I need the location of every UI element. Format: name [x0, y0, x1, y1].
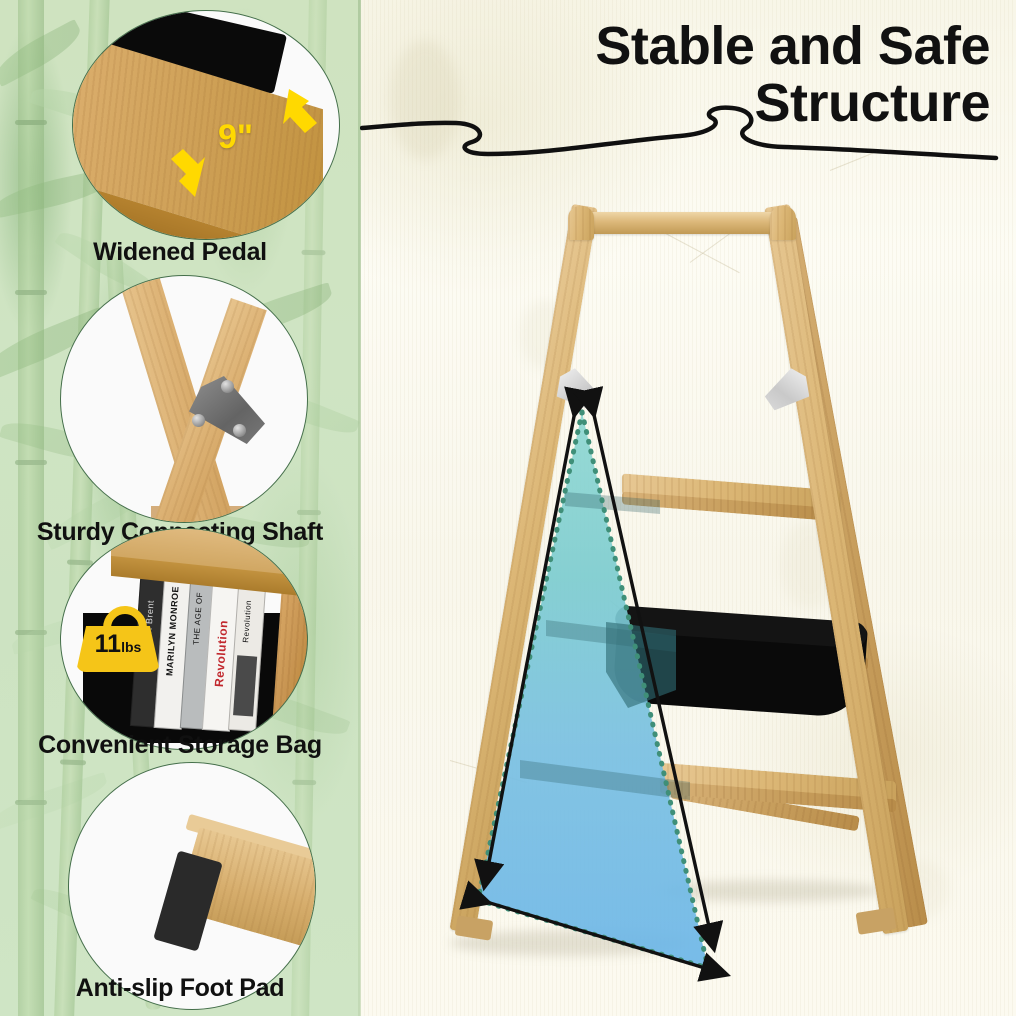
bracket-rivet: [192, 414, 205, 427]
feature-widened-pedal: 9" Widened Pedal: [0, 10, 360, 270]
dimension-arrow-group: [360, 0, 1016, 1016]
weight-badge-text: 11lbs: [76, 632, 160, 657]
feature-label-storage-bag: Convenient Storage Bag: [0, 731, 360, 760]
ladder-side-rail: [270, 580, 308, 750]
bracket-rivet: [233, 424, 246, 437]
weight-badge-unit: lbs: [121, 639, 141, 655]
feature-image-connecting-shaft: [60, 275, 308, 523]
weight-badge-value: 11: [95, 630, 121, 658]
feature-storage-bag: J. M. G. Brent MARILYN MONROE THE AGE OF…: [0, 528, 360, 773]
weight-capacity-badge: 11lbs: [76, 606, 160, 672]
feature-label-foot-pad: Anti-slip Foot Pad: [0, 974, 360, 1003]
bracket-rivet: [221, 380, 234, 393]
dimension-arrow-base: [480, 900, 718, 972]
feature-image-foot-pad: [68, 762, 316, 1010]
feature-foot-pad: Anti-slip Foot Pad: [0, 762, 360, 1012]
product-feature-infographic: Stable and Safe Structure 9" Widened Ped…: [0, 0, 1016, 1016]
dimension-arrow-right: [592, 406, 712, 940]
feature-image-widened-pedal: 9": [72, 10, 340, 240]
dimension-arrow-left: [486, 406, 576, 878]
pedal-dimension-arrows: [73, 11, 340, 240]
feature-label-widened-pedal: Widened Pedal: [0, 238, 360, 267]
feature-connecting-shaft: Sturdy Connecting Shaft: [0, 275, 360, 520]
product-photo-step-ladder: [360, 0, 1016, 1016]
